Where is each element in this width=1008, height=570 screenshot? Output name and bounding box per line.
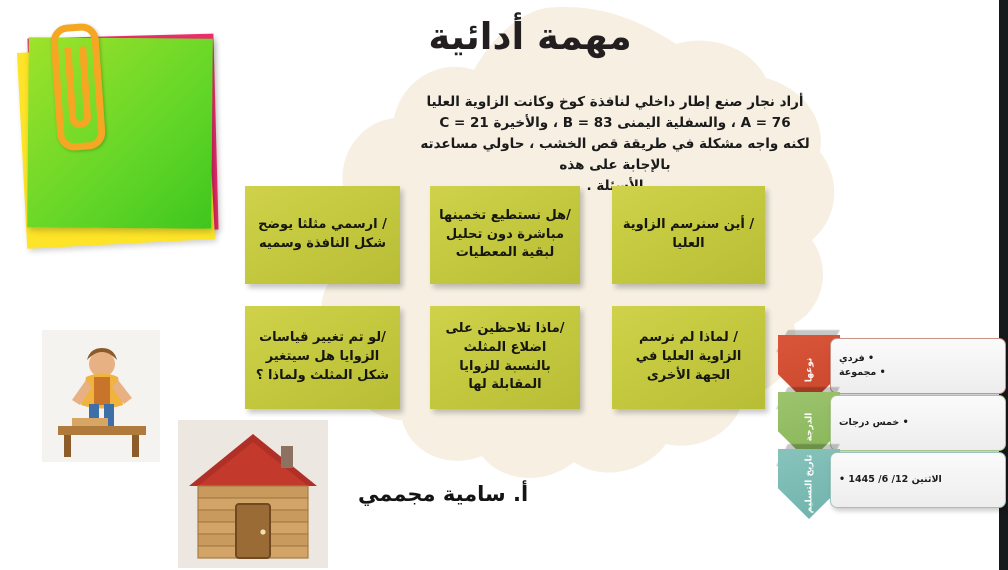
sticky-note-image	[8, 22, 238, 267]
info-bullet-individual: • فردي	[839, 352, 874, 366]
question-card-4[interactable]: / لماذا لم نرسم الزاوية العليا في الجهة …	[612, 306, 765, 409]
question-card-3[interactable]: / ارسمي مثلثا يوضح شكل النافذة وسميه	[245, 186, 400, 284]
info-row-due-date: تاريخ التسليم • الاثنين 12/ 6/ 1445	[768, 447, 1008, 521]
info-label-due-date: تاريخ التسليم	[804, 455, 814, 514]
info-bullet-group: • مجموعة	[839, 366, 886, 380]
task-info-panel: نوعها • فردي • مجموعة الدرجة • خمس درجات…	[768, 333, 1008, 523]
info-panel-grade: • خمس درجات	[830, 395, 1006, 451]
intro-paragraph: أراد نجار صنع إطار داخلي لنافذة كوخ وكان…	[400, 92, 830, 197]
angle-b-value: B = 83	[563, 115, 613, 131]
question-card-2[interactable]: /هل نستطيع تخمينها مباشرة دون تحليل لبقي…	[430, 186, 580, 284]
slide-canvas: مهمة أدائية أراد نجار صنع إطار داخلي لنا…	[0, 0, 1008, 570]
intro-line-2-text-b: ، والسفلية اليمنى	[617, 115, 736, 131]
info-label-type: نوعها	[804, 358, 814, 383]
question-card-6[interactable]: /لو تم تغيير قياسات الزوايا هل سيتغير شك…	[245, 306, 400, 409]
carpenter-at-workbench-image	[42, 330, 160, 462]
info-label-grade: الدرجة	[804, 413, 814, 442]
question-card-1[interactable]: / أين سنرسم الزاوية العليا	[612, 186, 765, 284]
angle-a-value: A = 76	[741, 115, 791, 131]
intro-line-3: لكنه واجه مشكلة في طريقة قص الخشب ، حاول…	[400, 134, 830, 176]
info-bullet-five-marks: • خمس درجات	[839, 416, 909, 430]
intro-line-2: A = 76 ، والسفلية اليمنى B = 83 ، والأخي…	[400, 113, 830, 134]
question-card-5[interactable]: /ماذا تلاحظين على اضلاع المثلث بالنسبة ل…	[430, 306, 580, 409]
angle-c-value: C = 21	[439, 115, 488, 131]
page-title: مهمة أدائية	[330, 14, 730, 60]
intro-line-1: أراد نجار صنع إطار داخلي لنافذة كوخ وكان…	[400, 92, 830, 113]
author-name: أ. سامية مجممي	[358, 482, 528, 506]
log-cabin-house-image	[178, 420, 328, 568]
info-bullet-due-date-value: • الاثنين 12/ 6/ 1445	[839, 473, 942, 487]
info-panel-type: • فردي • مجموعة	[830, 338, 1006, 394]
paperclip-icon	[50, 22, 107, 151]
intro-line-2-text-d: ، والأخيرة	[494, 115, 559, 131]
info-panel-due-date: • الاثنين 12/ 6/ 1445	[830, 452, 1006, 508]
